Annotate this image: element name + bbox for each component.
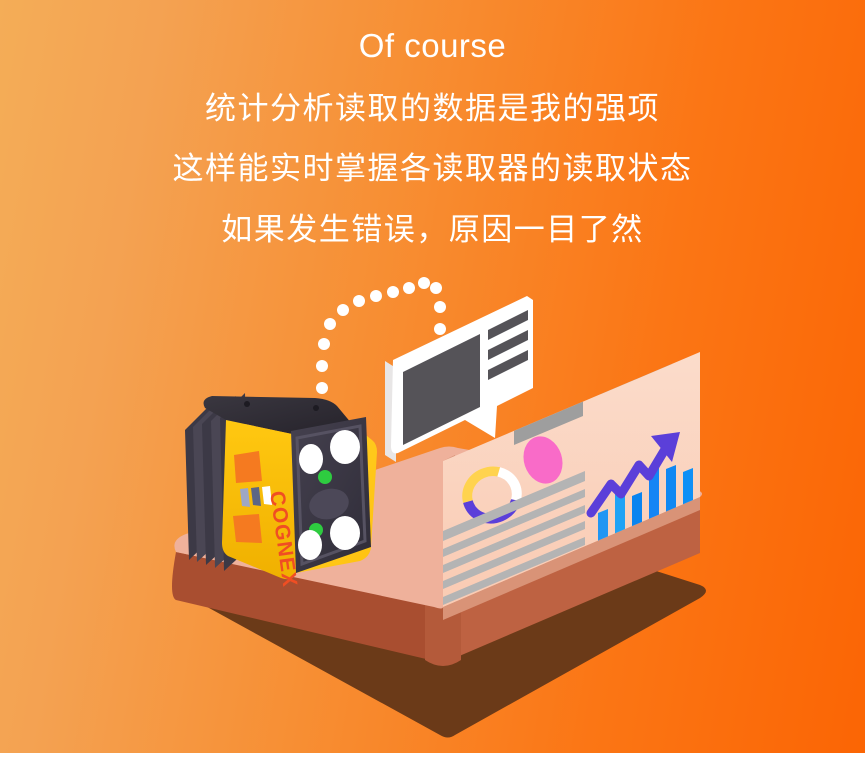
headline-line-2: 统计分析读取的数据是我的强项 <box>0 62 865 124</box>
poster-canvas: COGNEX Of course 统计分析读取的数据是我的强项 这样能实时掌握各… <box>0 0 865 758</box>
headline-line-1: Of course <box>0 0 865 62</box>
led-top-left <box>299 444 323 474</box>
led-bottom-left <box>298 530 322 560</box>
badge-train <box>234 451 262 483</box>
scanner-screw-2 <box>313 405 319 411</box>
indicator-green-top <box>318 470 332 484</box>
headline-line-3: 这样能实时掌握各读取器的读取状态 <box>0 124 865 184</box>
headline-block: Of course 统计分析读取的数据是我的强项 这样能实时掌握各读取器的读取状… <box>0 0 865 245</box>
headline-line-4: 如果发生错误，原因一目了然 <box>0 184 865 245</box>
badge-tune <box>233 514 262 543</box>
led-bottom-right <box>330 516 360 550</box>
scanner-screw-1 <box>244 401 250 407</box>
bottom-white-strip <box>0 753 865 758</box>
led-top-right <box>330 430 360 464</box>
